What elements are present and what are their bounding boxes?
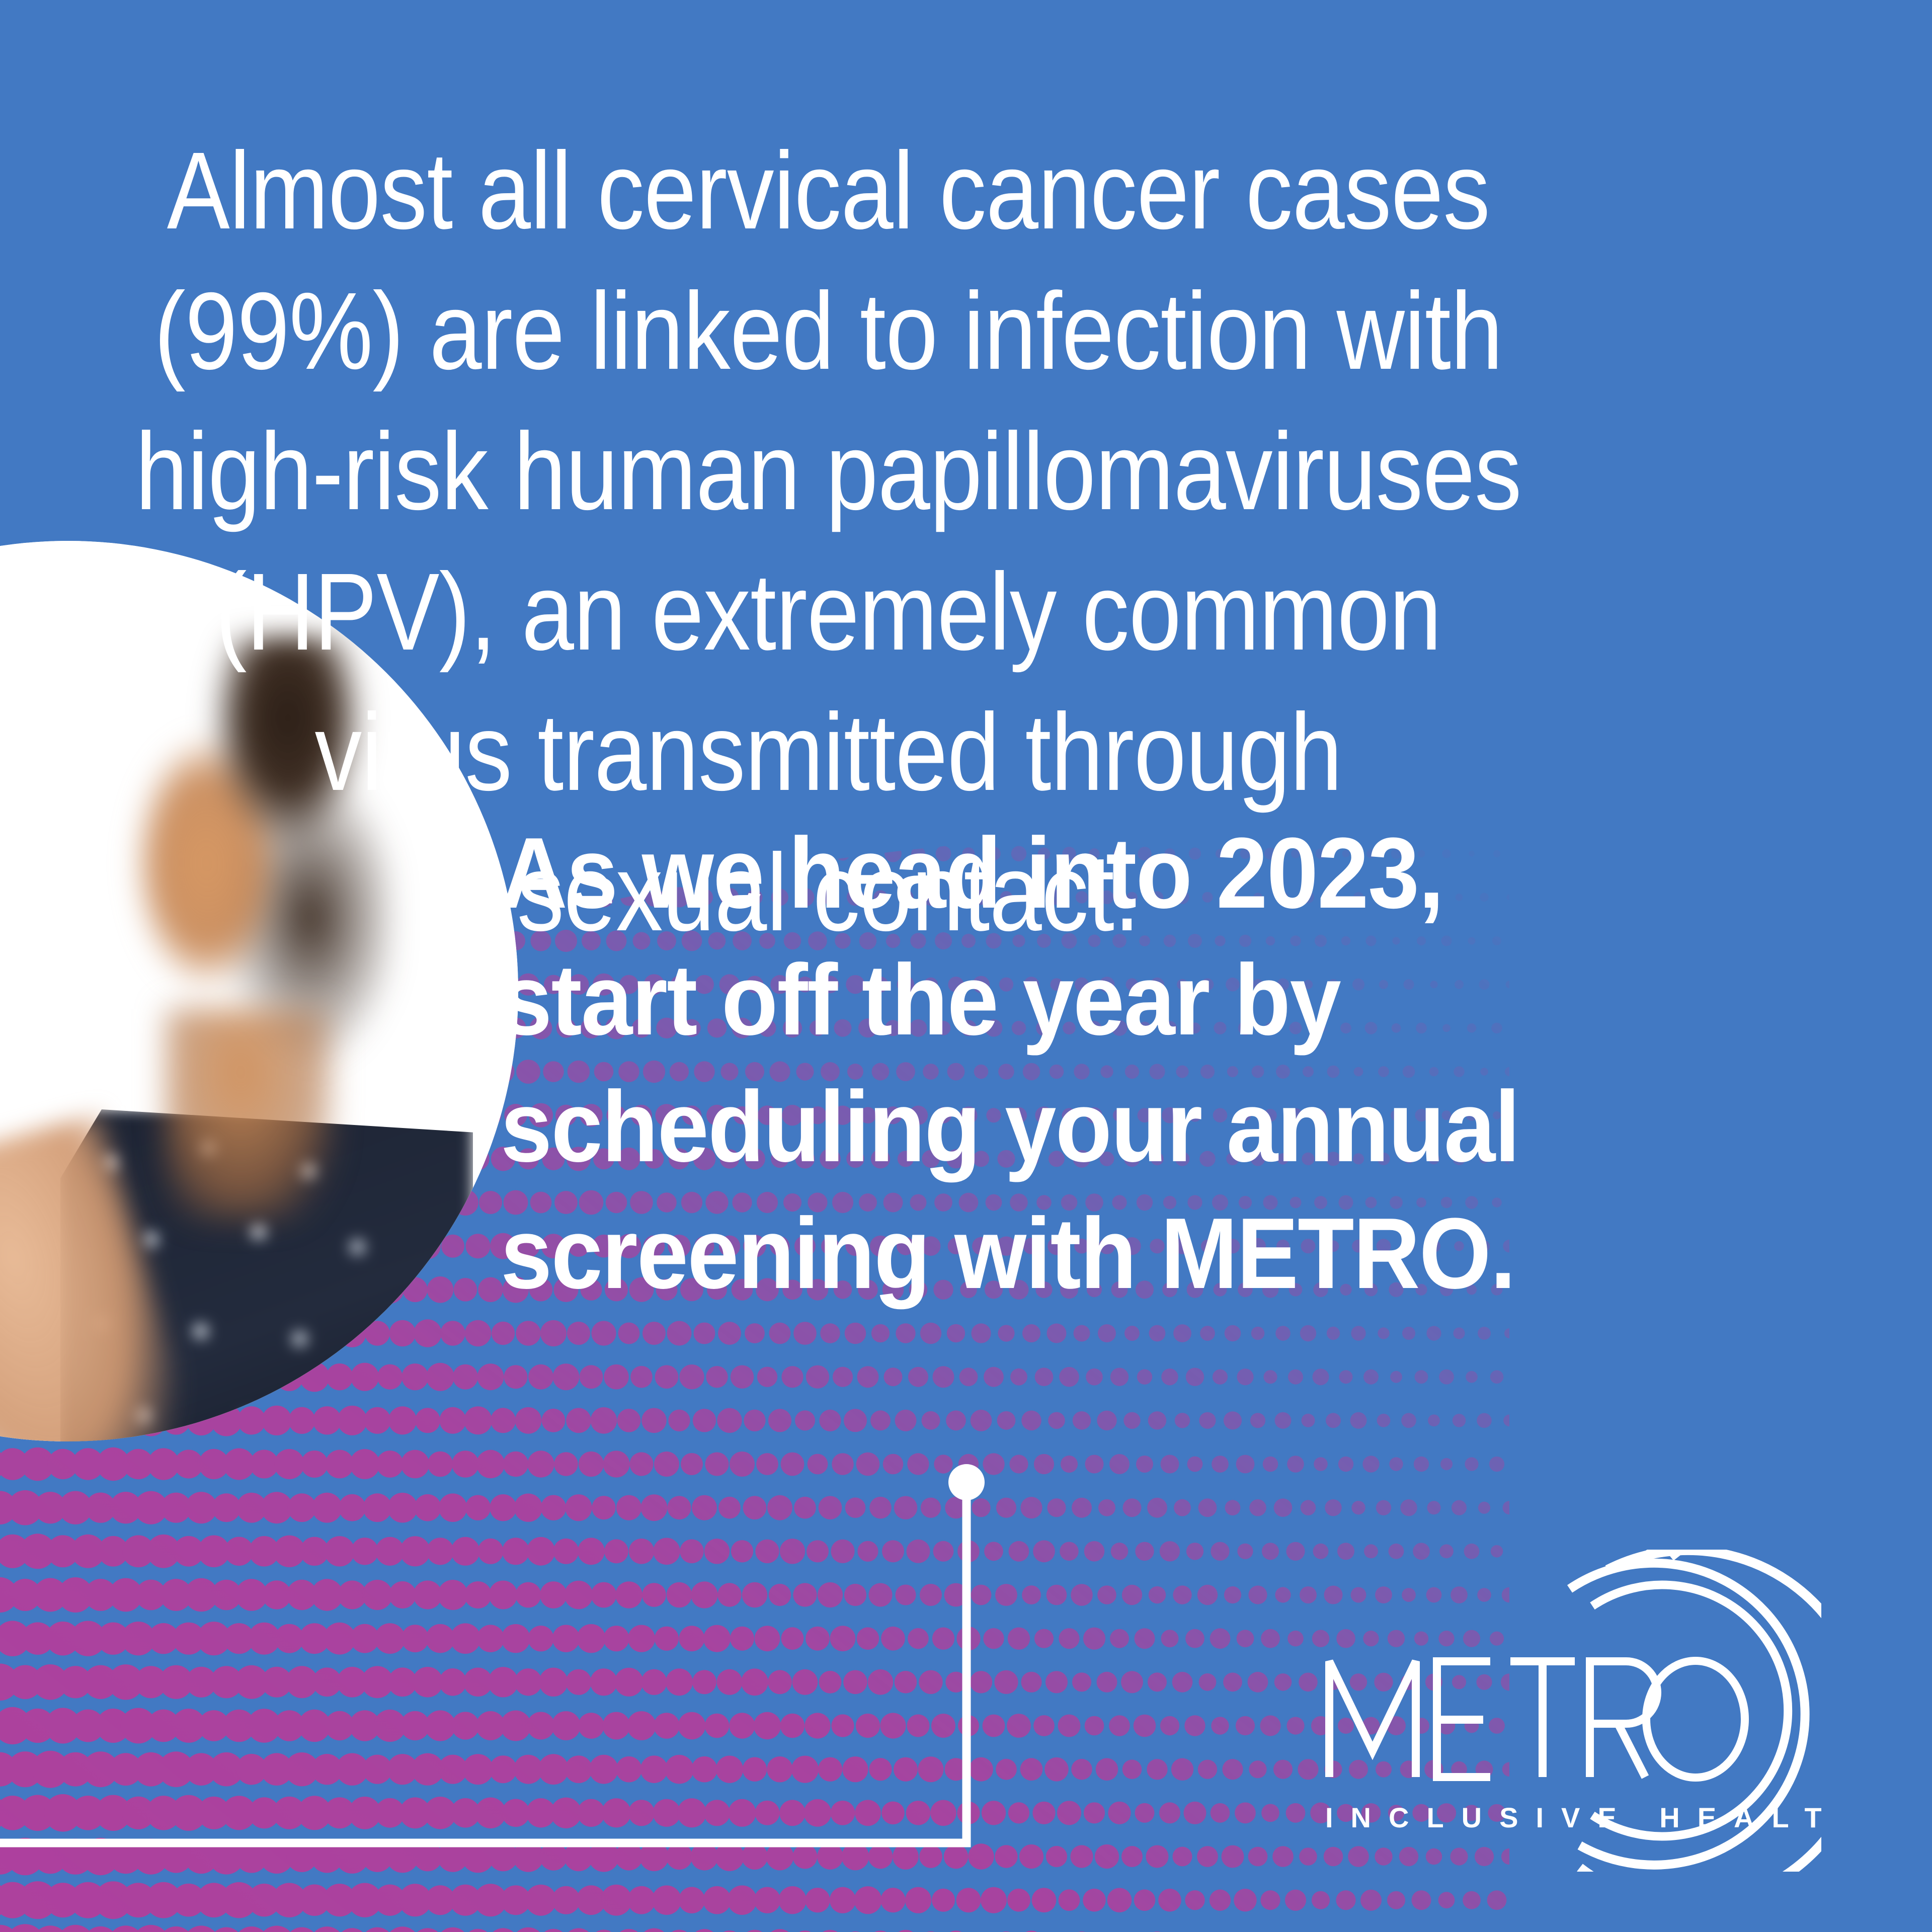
cta-copy: As we head into 2023, start off the year… xyxy=(501,810,1667,1317)
cta-copy-line: scheduling your annual xyxy=(501,1064,1667,1190)
metro-logo[interactable]: INCLUSIVE HEALTH METRO xyxy=(1318,1550,1821,1872)
cta-copy-line: As we head into 2023, xyxy=(501,810,1667,937)
logo-tagline: INCLUSIVE HEALTH xyxy=(1325,1802,1821,1833)
logo-wordmark xyxy=(1329,1661,1745,1778)
body-copy-line: high-risk human papillomaviruses xyxy=(75,401,1581,542)
cta-copy-line: start off the year by xyxy=(501,937,1667,1064)
body-copy-line: Almost all cervical cancer cases xyxy=(75,121,1581,261)
body-copy-line: virus transmitted through xyxy=(75,682,1581,823)
social-post-canvas: Almost all cervical cancer cases (99%) a… xyxy=(0,0,1932,1932)
pin-connector-line xyxy=(0,1449,1006,1872)
connector-path xyxy=(0,1482,967,1843)
body-copy-line: (HPV), an extremely common xyxy=(75,542,1581,682)
photo-neck xyxy=(166,1009,332,1220)
cta-copy-line: screening with METRO. xyxy=(501,1190,1667,1317)
body-copy-line: (99%) are linked to infection with xyxy=(75,261,1581,401)
